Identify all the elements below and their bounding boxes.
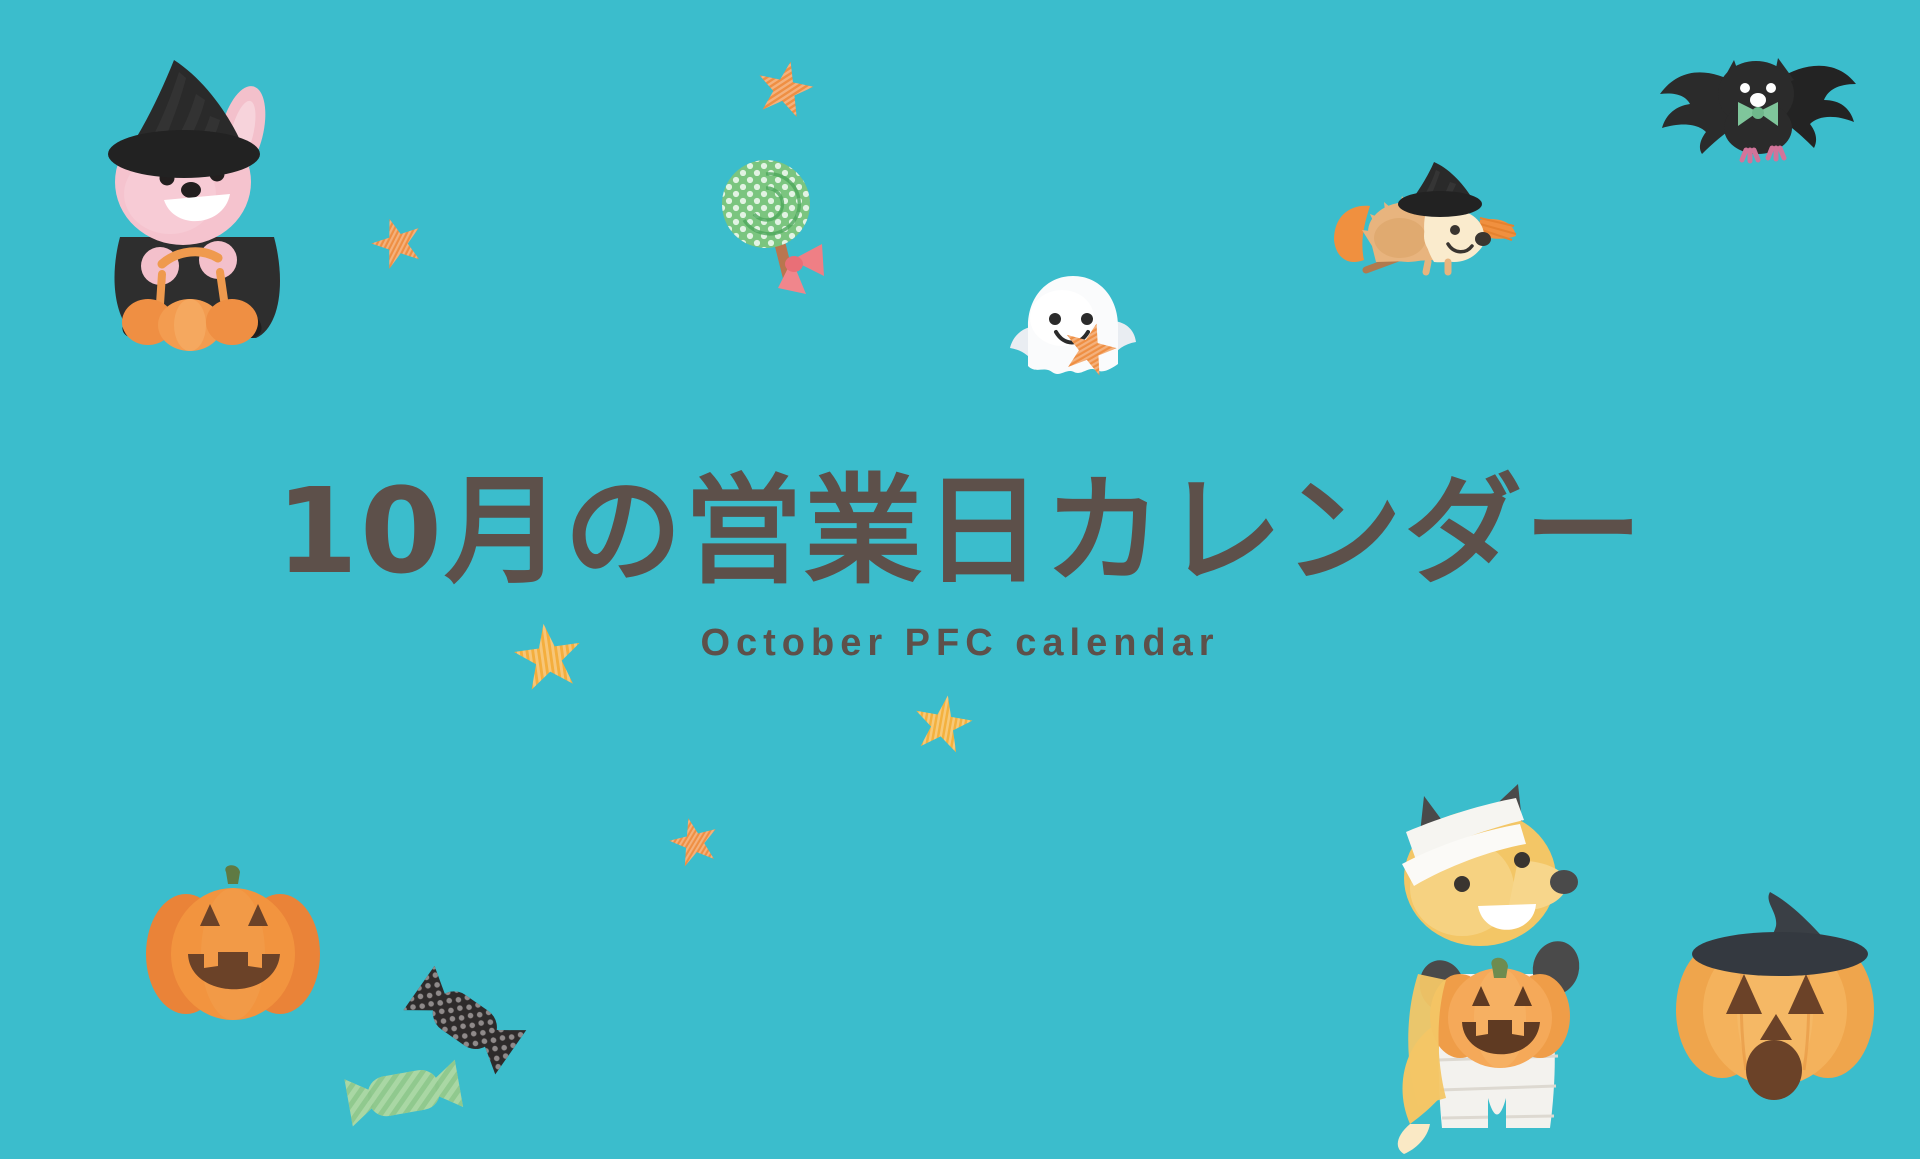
- star-orange-left: [363, 208, 431, 276]
- star-yellow-small: [907, 687, 979, 759]
- lollipop: [718, 148, 848, 293]
- star-yellow-large: [507, 615, 588, 696]
- bat: [1646, 32, 1866, 157]
- halloween-calendar-poster: 10月の営業日カレンダー October PFC calendar: [0, 0, 1920, 1159]
- candy-green: [345, 1055, 465, 1145]
- jack-o-lantern-witch-hat: [1660, 890, 1890, 1090]
- poster-text-block: 10月の営業日カレンダー October PFC calendar: [0, 470, 1920, 665]
- page-subtitle: October PFC calendar: [0, 622, 1920, 665]
- witch-bunny: [78, 42, 308, 342]
- witch-hedgehog: [1330, 120, 1520, 280]
- star-orange-top: [749, 52, 820, 123]
- star-orange-bottom: [662, 809, 725, 872]
- page-title: 10月の営業日カレンダー: [0, 470, 1920, 594]
- mummy-fox: [1388, 768, 1608, 1158]
- jack-o-lantern-left: [140, 862, 330, 1032]
